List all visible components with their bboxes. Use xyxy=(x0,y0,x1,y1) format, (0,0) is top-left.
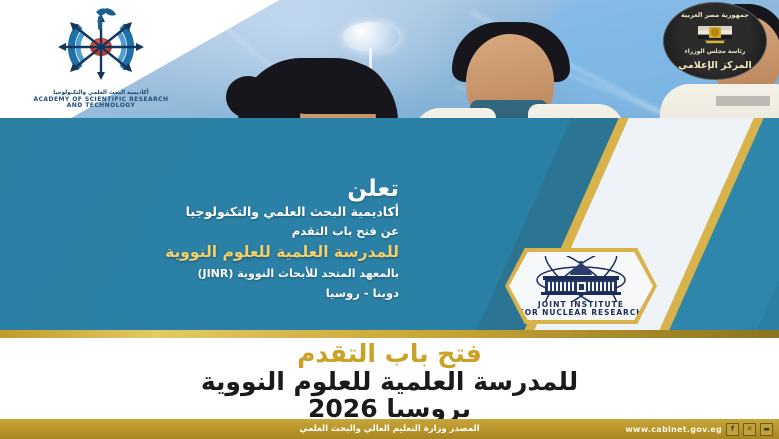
facebook-icon[interactable]: f xyxy=(726,423,739,436)
footer-links: www.cabinet.gov.eg f ✕ ▬ xyxy=(625,423,773,436)
asrt-logo-caption: أكاديمية البحث العلمي والتكنولوجيا ACADE… xyxy=(22,90,180,110)
asrt-english-name-line2: AND TECHNOLOGY xyxy=(22,103,180,110)
jinr-caption: JOINT INSTITUTE FOR NUCLEAR RESEARCH xyxy=(509,301,653,318)
egypt-cabinet-media-center-seal: جمهورية مصر العربية رئاسة مجلس الوزراء ا… xyxy=(663,2,767,84)
announcement-verb: تعلن xyxy=(347,176,399,202)
headline-line1: فتح باب التقدم xyxy=(0,341,779,367)
poster-root: أكاديمية البحث العلمي والتكنولوجيا ACADE… xyxy=(0,0,779,439)
hair-bun xyxy=(226,76,270,118)
x-twitter-icon[interactable]: ✕ xyxy=(743,423,756,436)
announcement-organization: أكاديمية البحث العلمي والتكنولوجيا xyxy=(186,204,399,219)
footer-website-url[interactable]: www.cabinet.gov.eg xyxy=(625,425,722,434)
eagle-of-saladin-icon xyxy=(694,24,736,48)
jinr-caption-line2: FOR NUCLEAR RESEARCH xyxy=(509,309,653,318)
announcement-partner: بالمعهد المتحد للأبحاث النووية (JINR) xyxy=(197,267,399,280)
coat-embroidery xyxy=(716,96,770,106)
jinr-badge-inner: JOINT INSTITUTE FOR NUCLEAR RESEARCH xyxy=(509,252,653,320)
youtube-icon[interactable]: ▬ xyxy=(760,423,773,436)
atom-orbit-building-icon xyxy=(527,256,635,302)
poster-footer: المصدر وزارة التعليم العالي والبحث العلم… xyxy=(0,419,779,439)
announcement-about: عن فتح باب التقدم xyxy=(292,224,399,238)
announcement-panel: تعلن أكاديمية البحث العلمي والتكنولوجيا … xyxy=(0,118,779,330)
joint-institute-for-nuclear-research-logo: JOINT INSTITUTE FOR NUCLEAR RESEARCH xyxy=(505,248,657,324)
announcement-location: دوبنا - روسيا xyxy=(326,286,399,300)
gold-divider xyxy=(0,330,779,338)
seal-republic-text: جمهورية مصر العربية xyxy=(663,11,767,19)
asrt-emblem-icon xyxy=(22,6,180,86)
academy-of-scientific-research-logo: أكاديمية البحث العلمي والتكنولوجيا ACADE… xyxy=(22,6,180,110)
announcement-program: للمدرسة العلمية للعلوم النووية xyxy=(165,243,399,261)
poster-headline: فتح باب التقدم للمدرسة العلمية للعلوم ال… xyxy=(0,338,779,420)
seal-media-center-text: المركز الإعلامي xyxy=(663,60,767,71)
seal-cabinet-text: رئاسة مجلس الوزراء xyxy=(663,48,767,55)
headline-line2: للمدرسة العلمية للعلوم النووية xyxy=(0,368,779,395)
